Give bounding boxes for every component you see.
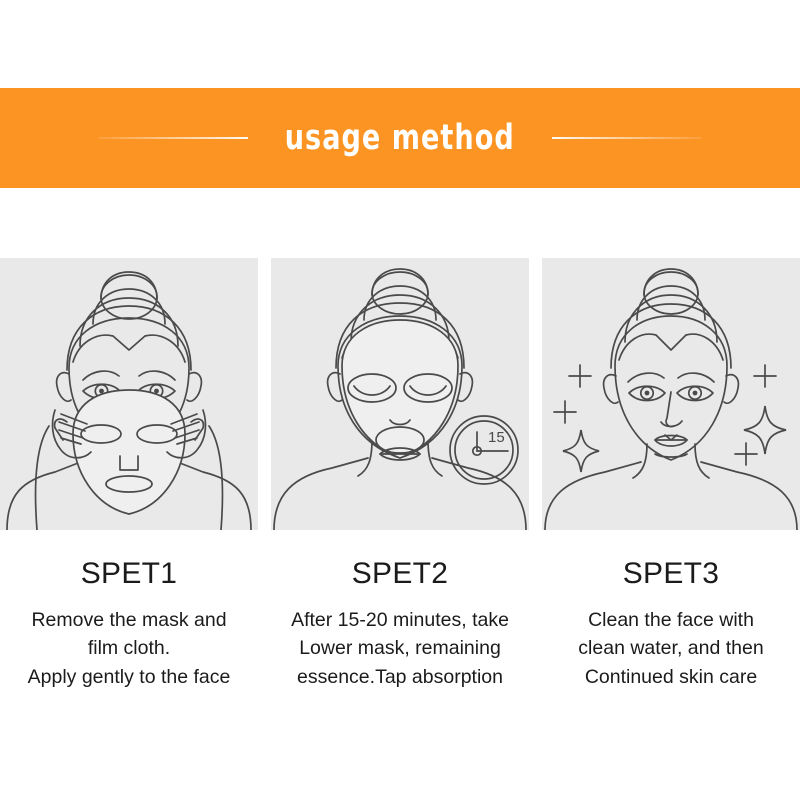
step-3-line-2: clean water, and then bbox=[542, 634, 800, 662]
step-3-line-3: Continued skin care bbox=[542, 663, 800, 691]
step-2-title: SPET2 bbox=[271, 556, 529, 592]
sparkle-group-left bbox=[554, 365, 599, 472]
step-3-title: SPET3 bbox=[542, 556, 800, 592]
woman-peeling-mask-sheet-icon bbox=[0, 258, 258, 530]
step-1-line-3: Apply gently to the face bbox=[0, 663, 258, 691]
step-1-description: Remove the mask and film cloth. Apply ge… bbox=[0, 606, 258, 691]
illustration-panel-step-1 bbox=[0, 258, 258, 530]
step-3-line-1: Clean the face with bbox=[542, 606, 800, 634]
step-captions: SPET1 Remove the mask and film cloth. Ap… bbox=[0, 556, 800, 691]
step-2-description: After 15-20 minutes, take Lower mask, re… bbox=[271, 606, 529, 691]
clock-minutes-label: 15 bbox=[488, 429, 505, 446]
caption-step-2: SPET2 After 15-20 minutes, take Lower ma… bbox=[271, 556, 529, 691]
step-1-line-1: Remove the mask and bbox=[0, 606, 258, 634]
sparkle-group-right bbox=[735, 365, 786, 465]
step-2-line-3: essence.Tap absorption bbox=[271, 663, 529, 691]
banner-left-rule bbox=[98, 137, 248, 139]
woman-wearing-mask-with-clock-icon: 15 bbox=[271, 258, 529, 530]
banner-inner: usage method bbox=[0, 118, 800, 158]
step-1-line-2: film cloth. bbox=[0, 634, 258, 662]
illustration-panel-step-2: 15 bbox=[271, 258, 529, 530]
illustration-panels: 15 bbox=[0, 258, 800, 530]
caption-step-1: SPET1 Remove the mask and film cloth. Ap… bbox=[0, 556, 258, 691]
step-1-title: SPET1 bbox=[0, 556, 258, 592]
page-title: usage method bbox=[285, 118, 515, 158]
usage-method-banner: usage method bbox=[0, 88, 800, 188]
illustration-panel-step-3 bbox=[542, 258, 800, 530]
step-2-line-1: After 15-20 minutes, take bbox=[271, 606, 529, 634]
caption-step-3: SPET3 Clean the face with clean water, a… bbox=[542, 556, 800, 691]
step-2-line-2: Lower mask, remaining bbox=[271, 634, 529, 662]
step-3-description: Clean the face with clean water, and the… bbox=[542, 606, 800, 691]
banner-right-rule bbox=[552, 137, 702, 139]
woman-clean-face-with-sparkles-icon bbox=[542, 258, 800, 530]
usage-method-infographic: usage method bbox=[0, 0, 800, 800]
